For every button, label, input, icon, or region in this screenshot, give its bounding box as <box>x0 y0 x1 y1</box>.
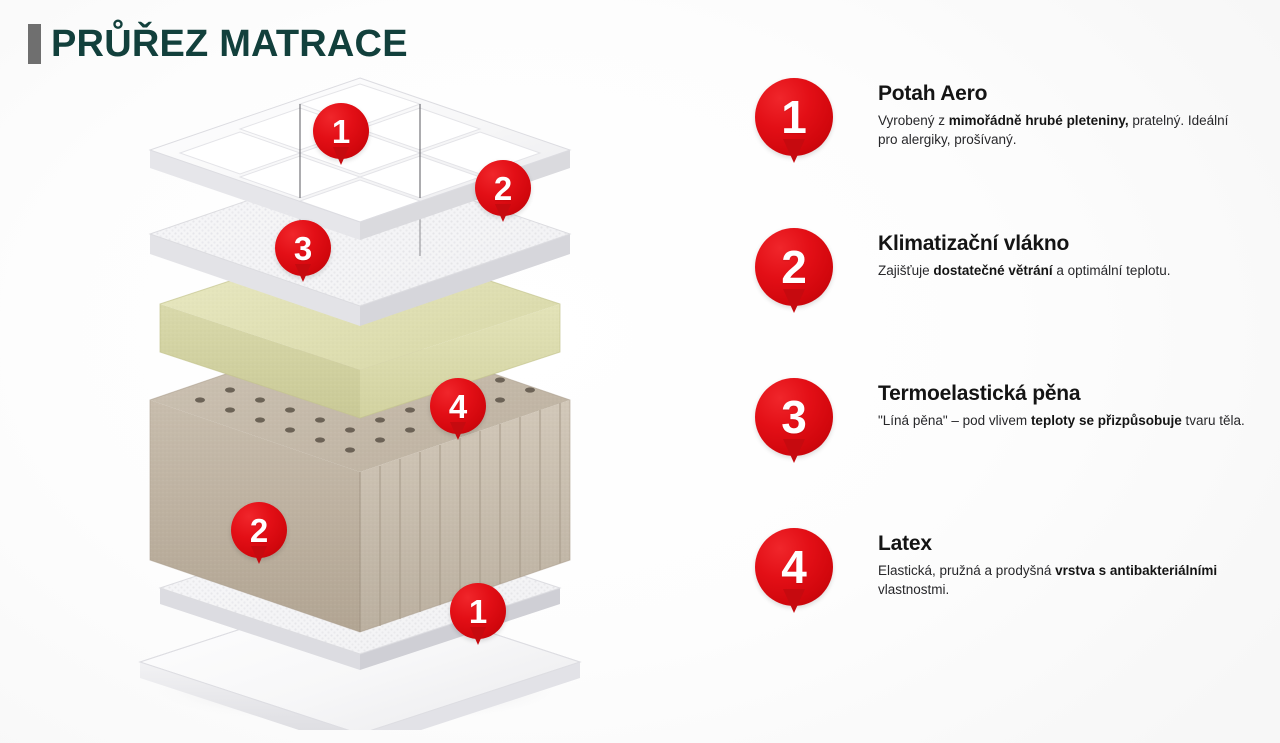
marker-number: 2 <box>231 502 287 558</box>
marker-number: 4 <box>755 528 833 606</box>
legend-description: Elastická, pružná a prodyšná vrstva s an… <box>878 561 1248 599</box>
layer-legend-list: 1 Potah Aero Vyrobený z mimořádně hrubé … <box>755 70 1255 670</box>
diagram-marker-4[interactable]: 4 <box>430 378 486 434</box>
marker-number: 1 <box>450 583 506 639</box>
legend-heading: Potah Aero <box>878 82 1248 106</box>
diagram-marker-1-top[interactable]: 1 <box>313 103 369 159</box>
diagram-marker-2-top[interactable]: 2 <box>475 160 531 216</box>
marker-number: 1 <box>755 78 833 156</box>
legend-marker-3[interactable]: 3 <box>755 378 833 456</box>
legend-marker-4[interactable]: 4 <box>755 528 833 606</box>
legend-heading: Latex <box>878 532 1248 556</box>
legend-item-3: 3 Termoelastická pěna "Líná pěna" – pod … <box>755 370 1255 520</box>
infographic-page: PRŮŘEZ MATRACE <box>0 0 1280 743</box>
marker-number: 4 <box>430 378 486 434</box>
page-title: PRŮŘEZ MATRACE <box>28 24 408 64</box>
legend-text-3: Termoelastická pěna "Líná pěna" – pod vl… <box>878 382 1248 430</box>
title-accent-bar <box>28 24 41 64</box>
page-title-text: PRŮŘEZ MATRACE <box>51 25 408 63</box>
legend-description: "Líná pěna" – pod vlivem teploty se přiz… <box>878 411 1248 430</box>
legend-item-1: 1 Potah Aero Vyrobený z mimořádně hrubé … <box>755 70 1255 220</box>
legend-item-2: 2 Klimatizační vlákno Zajišťuje dostateč… <box>755 220 1255 370</box>
marker-number: 3 <box>755 378 833 456</box>
legend-heading: Termoelastická pěna <box>878 382 1248 406</box>
mattress-cross-section-diagram: 1 2 3 4 2 <box>60 70 680 730</box>
marker-number: 2 <box>755 228 833 306</box>
marker-number: 2 <box>475 160 531 216</box>
diagram-marker-1-bottom[interactable]: 1 <box>450 583 506 639</box>
diagram-marker-3[interactable]: 3 <box>275 220 331 276</box>
legend-text-2: Klimatizační vlákno Zajišťuje dostatečné… <box>878 232 1248 280</box>
legend-heading: Klimatizační vlákno <box>878 232 1248 256</box>
diagram-marker-2-bottom[interactable]: 2 <box>231 502 287 558</box>
legend-description: Zajišťuje dostatečné větrání a optimální… <box>878 261 1248 280</box>
legend-marker-2[interactable]: 2 <box>755 228 833 306</box>
mattress-layers-svg <box>60 70 680 730</box>
legend-description: Vyrobený z mimořádně hrubé pleteniny, pr… <box>878 111 1248 149</box>
legend-text-1: Potah Aero Vyrobený z mimořádně hrubé pl… <box>878 82 1248 149</box>
legend-item-4: 4 Latex Elastická, pružná a prodyšná vrs… <box>755 520 1255 670</box>
legend-marker-1[interactable]: 1 <box>755 78 833 156</box>
marker-number: 3 <box>275 220 331 276</box>
legend-text-4: Latex Elastická, pružná a prodyšná vrstv… <box>878 532 1248 599</box>
marker-number: 1 <box>313 103 369 159</box>
